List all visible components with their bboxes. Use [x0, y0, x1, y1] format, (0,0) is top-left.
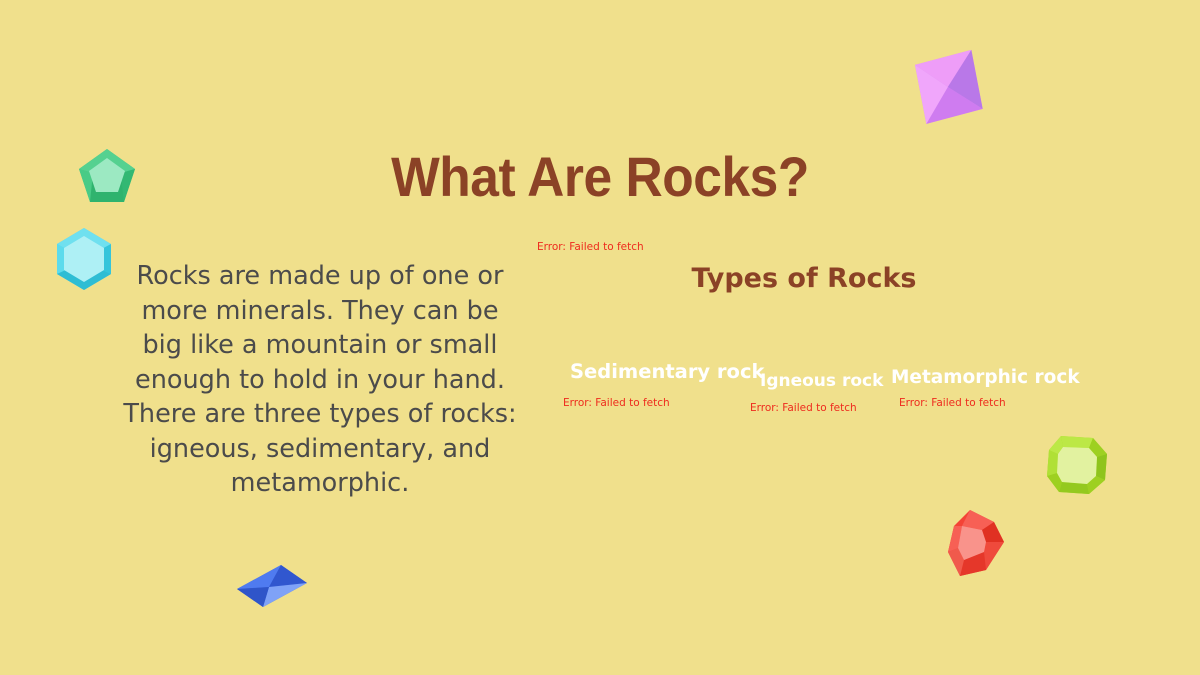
- rock-label-igneous: Igneous rock: [760, 371, 883, 391]
- red-crystal-gem-icon: [946, 508, 1008, 578]
- lime-octagon-gem-icon: [1045, 434, 1109, 496]
- error-message-top: Error: Failed to fetch: [537, 241, 644, 253]
- rock-label-sedimentary: Sedimentary rock: [570, 360, 764, 383]
- slide-canvas: What Are Rocks? Rocks are made up of one…: [0, 0, 1200, 675]
- types-of-rocks-heading: Types of Rocks: [604, 263, 1004, 294]
- cyan-hexagon-gem-icon: [54, 226, 114, 292]
- error-message-sedimentary: Error: Failed to fetch: [563, 397, 670, 409]
- error-message-metamorphic: Error: Failed to fetch: [899, 397, 1006, 409]
- purple-diamond-gem-icon: [911, 48, 985, 128]
- rock-label-metamorphic: Metamorphic rock: [891, 367, 1080, 388]
- error-message-igneous: Error: Failed to fetch: [750, 402, 857, 414]
- blue-pyramid-gem-icon: [233, 563, 309, 609]
- page-title: What Are Rocks?: [48, 144, 1152, 209]
- body-paragraph: Rocks are made up of one or more mineral…: [120, 259, 520, 501]
